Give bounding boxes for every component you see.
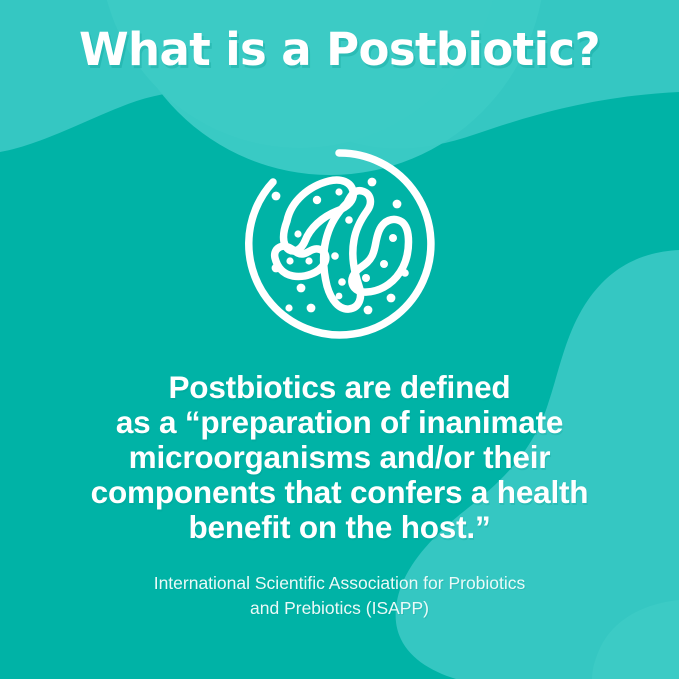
bacterium-rod-1 xyxy=(284,180,354,251)
free-dot xyxy=(387,294,396,303)
free-dot xyxy=(307,304,316,313)
microorganisms-petri-dish-icon xyxy=(243,148,435,340)
quote-line: as a “preparation of inanimate xyxy=(28,405,651,440)
quote-text: Postbiotics are defined as a “preparatio… xyxy=(28,370,651,545)
free-dot xyxy=(272,192,281,201)
free-dot xyxy=(364,306,373,315)
bacterium-dot xyxy=(286,257,293,264)
bacterium-dot xyxy=(389,234,397,242)
bacterium-dot xyxy=(331,252,339,260)
quote-line: Postbiotics are defined xyxy=(28,370,651,405)
bacterium-dot xyxy=(305,257,312,264)
free-dot xyxy=(272,264,281,273)
bacterium-dot xyxy=(294,230,301,237)
free-dot xyxy=(297,284,306,293)
bacterium-dot xyxy=(345,216,353,224)
infographic-card: What is a Postbiotic? xyxy=(0,0,679,679)
bacterium-dot xyxy=(336,293,343,300)
free-dot xyxy=(401,269,409,277)
quote-line: components that confers a health xyxy=(28,475,651,510)
bacterium-dot xyxy=(313,196,321,204)
free-dot xyxy=(285,304,292,311)
quote-line: microorganisms and/or their xyxy=(28,440,651,475)
attribution-text: International Scientific Association for… xyxy=(40,571,639,621)
attribution-line: International Scientific Association for… xyxy=(40,571,639,596)
bacterium-dot xyxy=(335,188,342,195)
quote-line: benefit on the host.” xyxy=(28,510,651,545)
attribution-line: and Prebiotics (ISAPP) xyxy=(40,596,639,621)
page-title: What is a Postbiotic? xyxy=(0,26,679,75)
bacterium-dot xyxy=(362,274,370,282)
bacterium-dot xyxy=(338,278,346,286)
bacterium-rod-4 xyxy=(275,246,326,276)
free-dot xyxy=(368,178,377,187)
free-dot xyxy=(393,200,402,209)
bacterium-dot xyxy=(380,260,388,268)
